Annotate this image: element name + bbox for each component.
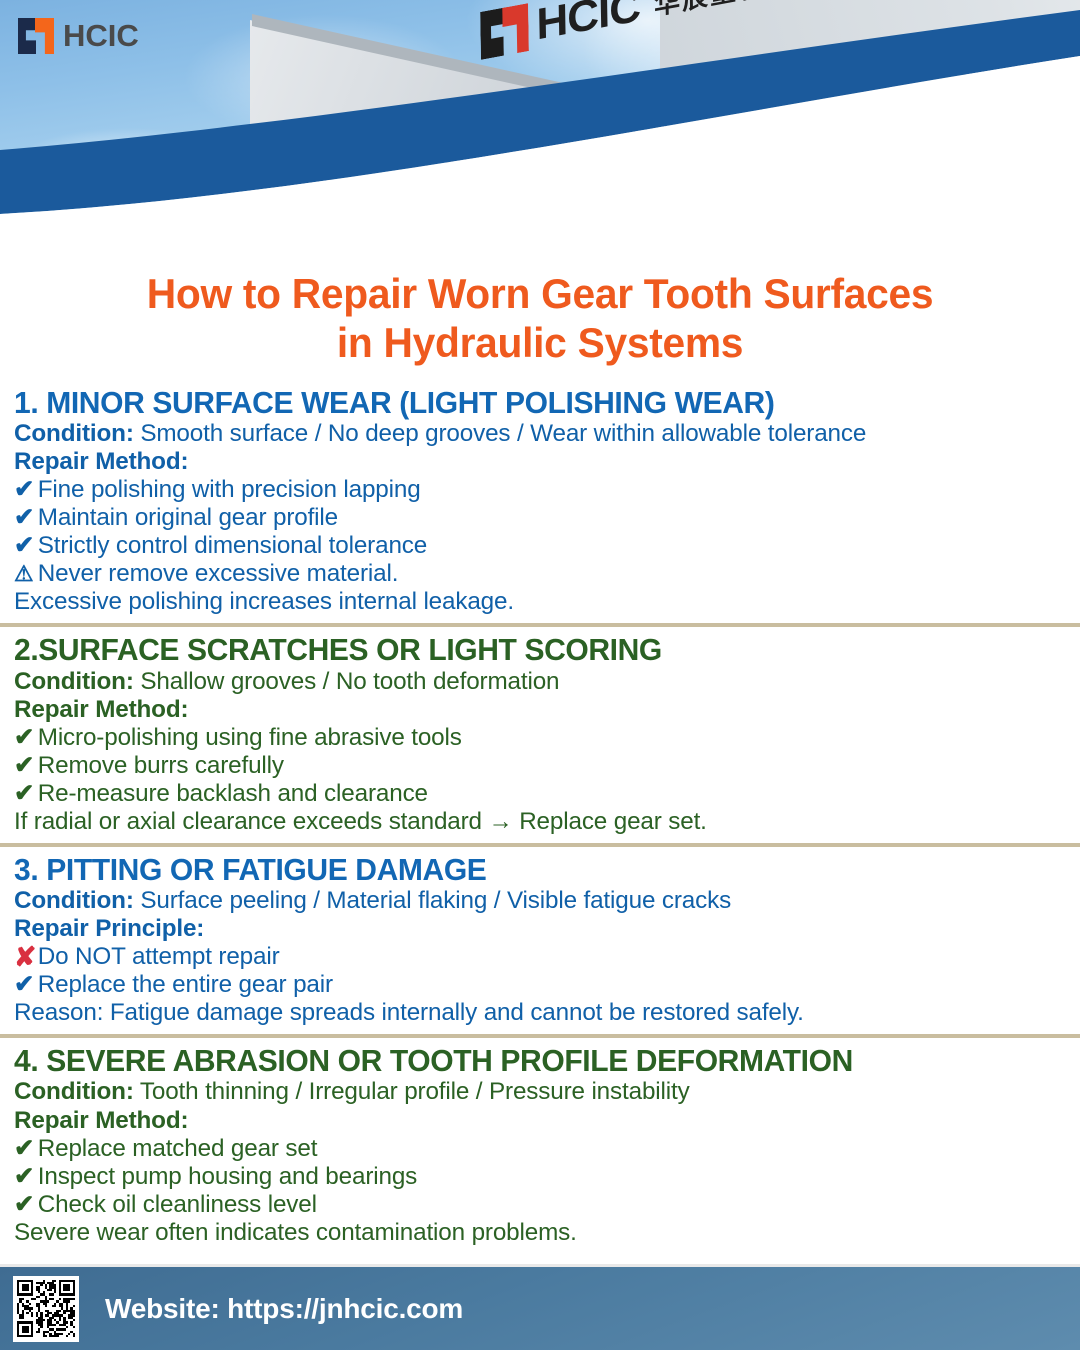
section-2-condition-label: Condition: xyxy=(14,668,134,695)
check-icon: ✔ xyxy=(14,1163,38,1191)
section-3-item-1: ✘Do NOT attempt repair xyxy=(14,943,1057,971)
section-4-method-label-text: Repair Method: xyxy=(14,1107,188,1134)
section-2-item-1: ✔Micro-polishing using fine abrasive too… xyxy=(14,724,1057,752)
check-icon: ✔ xyxy=(14,752,38,780)
section-2-item-1-text: Micro-polishing using fine abrasive tool… xyxy=(38,724,462,751)
section-3-note: Reason: Fatigue damage spreads internall… xyxy=(14,999,1057,1027)
check-icon: ✔ xyxy=(14,724,38,752)
section-1-item-4: ⚠Never remove excessive material. xyxy=(14,560,1057,588)
section-4-item-1: ✔Replace matched gear set xyxy=(14,1135,1057,1163)
footer-bar: Website: https://jnhcic.com xyxy=(0,1267,1080,1350)
page-title-line-2: in Hydraulic Systems xyxy=(55,319,1025,368)
website-label[interactable]: Website: https://jnhcic.com xyxy=(105,1293,463,1325)
qr-code-icon[interactable] xyxy=(13,1276,79,1342)
check-icon: ✔ xyxy=(14,1191,38,1219)
section-4-method-label: Repair Method: xyxy=(14,1107,1057,1135)
section-2-method-label: Repair Method: xyxy=(14,696,1057,724)
section-1-item-1: ✔Fine polishing with precision lapping xyxy=(14,476,1057,504)
section-4-condition: Condition: Tooth thinning / Irregular pr… xyxy=(14,1078,1057,1106)
check-icon: ✔ xyxy=(14,780,38,808)
section-2-item-3-text: Re-measure backlash and clearance xyxy=(38,780,428,807)
section-4-condition-label: Condition: xyxy=(14,1078,134,1105)
check-icon: ✔ xyxy=(14,476,38,504)
warning-icon: ⚠ xyxy=(14,561,38,586)
section-1-heading: 1. MINOR SURFACE WEAR (LIGHT POLISHING W… xyxy=(14,386,1052,420)
section-3-item-1-text: Do NOT attempt repair xyxy=(38,943,280,970)
section-3-method-label-text: Repair Principle: xyxy=(14,915,204,942)
check-icon: ✔ xyxy=(14,532,38,560)
section-1-item-2-text: Maintain original gear profile xyxy=(38,504,338,531)
section-3-heading: 3. PITTING OR FATIGUE DAMAGE xyxy=(14,853,1052,887)
section-1-condition-text: Smooth surface / No deep grooves / Wear … xyxy=(134,420,866,447)
hcic-mark-icon xyxy=(18,18,54,54)
section-3-condition-text: Surface peeling / Material flaking / Vis… xyxy=(134,887,731,914)
section-1-item-1-text: Fine polishing with precision lapping xyxy=(38,476,421,503)
section-3-condition: Condition: Surface peeling / Material fl… xyxy=(14,887,1057,915)
section-2-condition-text: Shallow grooves / No tooth deformation xyxy=(134,668,560,695)
section-2-condition: Condition: Shallow grooves / No tooth de… xyxy=(14,668,1057,696)
section-1-method-label: Repair Method: xyxy=(14,448,1057,476)
section-1-item-3: ✔Strictly control dimensional tolerance xyxy=(14,532,1057,560)
brand-logo: HCIC xyxy=(18,18,139,54)
section-1-note: Excessive polishing increases internal l… xyxy=(14,588,1057,616)
blue-wave-divider xyxy=(0,0,1080,258)
section-2: 2.SURFACE SCRATCHES OR LIGHT SCORINGCond… xyxy=(0,633,1080,835)
page-title-line-1: How to Repair Worn Gear Tooth Surfaces xyxy=(55,270,1025,319)
section-4: 4. SEVERE ABRASION OR TOOTH PROFILE DEFO… xyxy=(0,1044,1080,1246)
check-icon: ✔ xyxy=(14,971,38,999)
section-4-item-2: ✔Inspect pump housing and bearings xyxy=(14,1163,1057,1191)
sections-list: 1. MINOR SURFACE WEAR (LIGHT POLISHING W… xyxy=(0,386,1080,1247)
section-divider-2 xyxy=(0,843,1080,847)
section-4-item-1-text: Replace matched gear set xyxy=(38,1135,318,1162)
section-2-heading: 2.SURFACE SCRATCHES OR LIGHT SCORING xyxy=(14,633,1052,667)
section-4-item-2-text: Inspect pump housing and bearings xyxy=(38,1163,417,1190)
section-divider-1 xyxy=(0,623,1080,627)
brand-logo-text: HCIC xyxy=(63,18,139,54)
section-4-heading: 4. SEVERE ABRASION OR TOOTH PROFILE DEFO… xyxy=(14,1044,1052,1078)
section-1-item-3-text: Strictly control dimensional tolerance xyxy=(38,532,427,559)
section-1-condition-label: Condition: xyxy=(14,420,134,447)
section-2-item-2-text: Remove burrs carefully xyxy=(38,752,284,779)
section-2-item-3: ✔Re-measure backlash and clearance xyxy=(14,780,1057,808)
section-2-method-label-text: Repair Method: xyxy=(14,696,188,723)
section-1-method-label-text: Repair Method: xyxy=(14,448,188,475)
section-3: 3. PITTING OR FATIGUE DAMAGECondition: S… xyxy=(0,853,1080,1027)
section-3-condition-label: Condition: xyxy=(14,887,134,914)
section-divider-3 xyxy=(0,1034,1080,1038)
section-2-note: If radial or axial clearance exceeds sta… xyxy=(14,808,1057,836)
section-4-item-3: ✔Check oil cleanliness level xyxy=(14,1191,1057,1219)
section-4-note: Severe wear often indicates contaminatio… xyxy=(14,1219,1057,1247)
section-1-condition: Condition: Smooth surface / No deep groo… xyxy=(14,420,1057,448)
section-1-item-4-text: Never remove excessive material. xyxy=(38,560,399,587)
section-2-item-2: ✔Remove burrs carefully xyxy=(14,752,1057,780)
section-3-item-2: ✔Replace the entire gear pair xyxy=(14,971,1057,999)
section-4-item-3-text: Check oil cleanliness level xyxy=(38,1191,317,1218)
section-1: 1. MINOR SURFACE WEAR (LIGHT POLISHING W… xyxy=(0,386,1080,616)
check-icon: ✔ xyxy=(14,1135,38,1163)
section-4-condition-text: Tooth thinning / Irregular profile / Pre… xyxy=(134,1078,690,1105)
section-3-item-2-text: Replace the entire gear pair xyxy=(38,971,333,998)
section-3-method-label: Repair Principle: xyxy=(14,915,1057,943)
header-banner: HCIC 华辰重机 HCIC xyxy=(0,0,1080,258)
section-1-item-2: ✔Maintain original gear profile xyxy=(14,504,1057,532)
page-title: How to Repair Worn Gear Tooth Surfaces i… xyxy=(55,270,1025,367)
check-icon: ✔ xyxy=(14,504,38,532)
